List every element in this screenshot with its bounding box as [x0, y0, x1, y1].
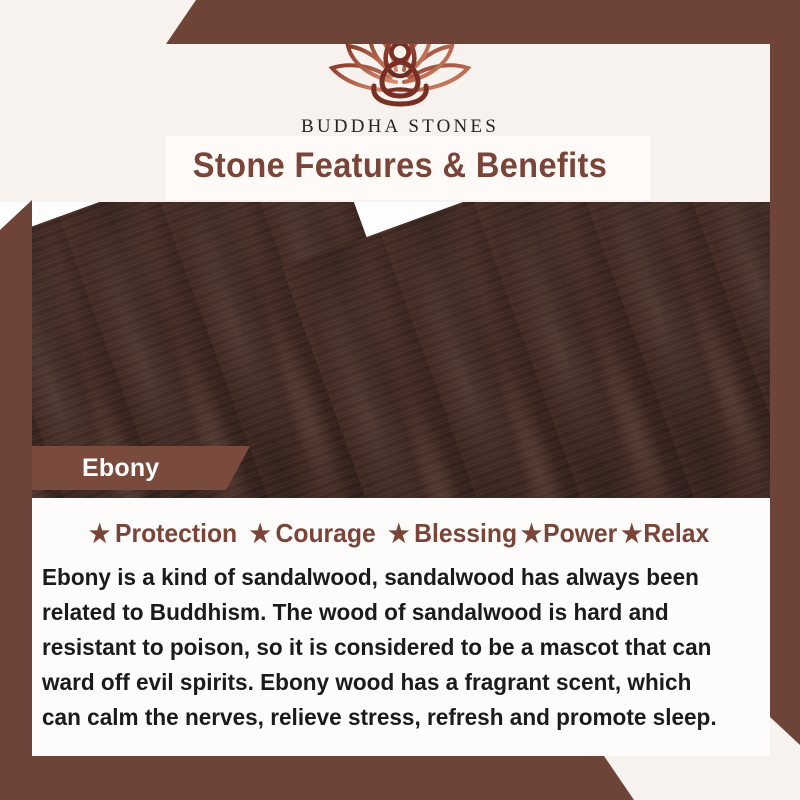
poster-canvas: BUDDHA STONES Stone Features & Benefits …	[0, 0, 800, 800]
content-panel: ★Protection★Courage★Blessing★Power★Relax…	[32, 498, 770, 756]
star-icon: ★	[388, 520, 409, 548]
frame-right-bar	[770, 0, 800, 800]
benefit-item: ★Protection	[89, 518, 237, 548]
description-text: Ebony is a kind of sandalwood, sandalwoo…	[42, 560, 726, 735]
product-label-band: Ebony	[0, 446, 270, 490]
frame-bottom-bar	[0, 756, 800, 800]
brand-name: BUDDHA STONES	[270, 116, 530, 138]
title-band: Stone Features & Benefits	[0, 136, 800, 202]
star-icon: ★	[621, 520, 642, 548]
benefit-label: Blessing	[414, 518, 517, 548]
star-icon: ★	[521, 520, 542, 548]
benefit-label: Relax	[643, 518, 709, 548]
star-icon: ★	[249, 520, 270, 548]
benefit-item: ★Blessing	[388, 518, 517, 548]
benefit-label: Protection	[115, 518, 237, 548]
wood-slab-right	[282, 196, 800, 498]
benefit-label: Courage	[276, 518, 376, 548]
product-label: Ebony	[82, 446, 159, 490]
benefit-label: Power	[543, 518, 617, 548]
benefit-item: ★Power	[521, 518, 617, 548]
benefit-item: ★Relax	[621, 518, 709, 548]
benefit-item: ★Courage	[249, 518, 375, 548]
star-icon: ★	[89, 520, 110, 548]
page-title: Stone Features & Benefits	[28, 136, 772, 196]
benefits-row: ★Protection★Courage★Blessing★Power★Relax	[50, 518, 751, 549]
